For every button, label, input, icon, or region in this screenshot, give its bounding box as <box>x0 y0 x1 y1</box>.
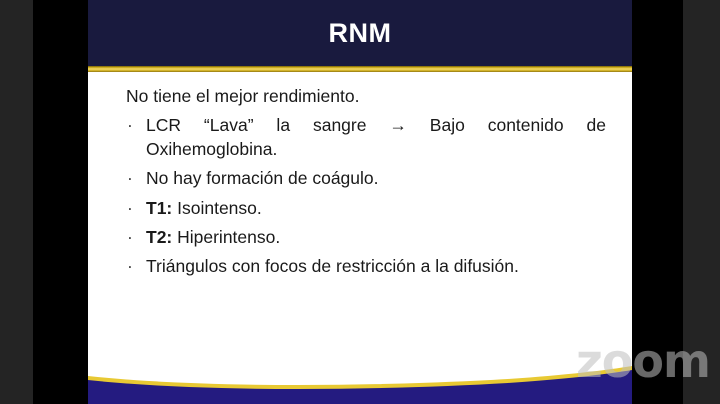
bullet-icon: · <box>127 254 133 278</box>
slide-footer-wave <box>88 358 632 404</box>
list-item-text: No hay formación de coágulo. <box>146 168 379 188</box>
header-accent-rule <box>88 66 632 72</box>
slide-lead-line: No tiene el mejor rendimiento. <box>126 84 606 108</box>
bullet-icon: · <box>127 166 133 190</box>
list-item: ·No hay formación de coágulo. <box>126 166 606 190</box>
list-item: ·T2: Hiperintenso. <box>126 225 606 249</box>
list-item: ·Triángulos con focos de restricción a l… <box>126 254 606 278</box>
slide-title: RNM <box>88 0 632 66</box>
screen-share-frame: RNM No tiene el mejor rendimiento. ·LCR … <box>0 0 720 404</box>
list-item-text: Triángulos con focos de restricción a la… <box>146 256 519 276</box>
slide-bullet-list: ·LCR “Lava” la sangre → Bajo contenido d… <box>126 113 606 278</box>
list-item-text: Hiperintenso. <box>172 227 280 247</box>
slide-body: No tiene el mejor rendimiento. ·LCR “Lav… <box>126 84 606 283</box>
list-item: ·LCR “Lava” la sangre → Bajo contenido d… <box>126 113 606 161</box>
list-item-bold-prefix: T1: <box>146 198 172 218</box>
bullet-icon: · <box>127 225 133 249</box>
bullet-icon: · <box>127 196 133 220</box>
presentation-slide: RNM No tiene el mejor rendimiento. ·LCR … <box>88 0 632 404</box>
list-item: ·T1: Isointenso. <box>126 196 606 220</box>
list-item-text: LCR “Lava” la sangre → Bajo contenido de… <box>146 115 606 159</box>
list-item-bold-prefix: T2: <box>146 227 172 247</box>
bullet-icon: · <box>127 113 133 137</box>
list-item-text: Isointenso. <box>172 198 262 218</box>
